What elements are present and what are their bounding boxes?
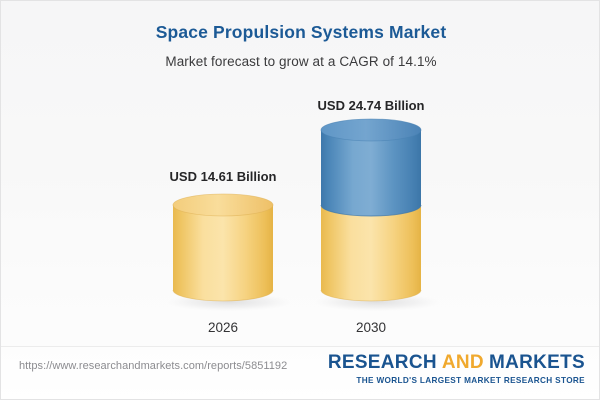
category-label-2026: 2026	[163, 320, 283, 335]
logo-word-research: RESEARCH	[328, 352, 437, 373]
chart-plot-area: USD 14.61 Billion USD 24.74 Billion 2026…	[1, 1, 600, 346]
bar-2030-top-body	[321, 130, 421, 216]
value-label-2026: USD 14.61 Billion	[133, 169, 313, 184]
category-label-2030: 2030	[311, 320, 431, 335]
bar-2026-body	[173, 205, 273, 301]
bar-2030-base-body	[321, 205, 421, 301]
logo-tagline: THE WORLD'S LARGEST MARKET RESEARCH STOR…	[328, 375, 585, 386]
market-forecast-chart-card: Space Propulsion Systems Market Market f…	[0, 0, 600, 400]
research-and-markets-logo[interactable]: RESEARCHANDMARKETS THE WORLD'S LARGEST M…	[328, 352, 585, 386]
value-label-2030: USD 24.74 Billion	[281, 98, 461, 113]
bar-2030[interactable]	[321, 119, 421, 301]
bar-2026[interactable]	[173, 194, 273, 301]
logo-word-markets: MARKETS	[489, 352, 585, 373]
source-url-link[interactable]: https://www.researchandmarkets.com/repor…	[19, 360, 287, 372]
logo-word-and: AND	[442, 352, 484, 373]
logo-wordmark: RESEARCHANDMARKETS	[328, 352, 585, 374]
chart-footer: https://www.researchandmarkets.com/repor…	[1, 346, 600, 400]
